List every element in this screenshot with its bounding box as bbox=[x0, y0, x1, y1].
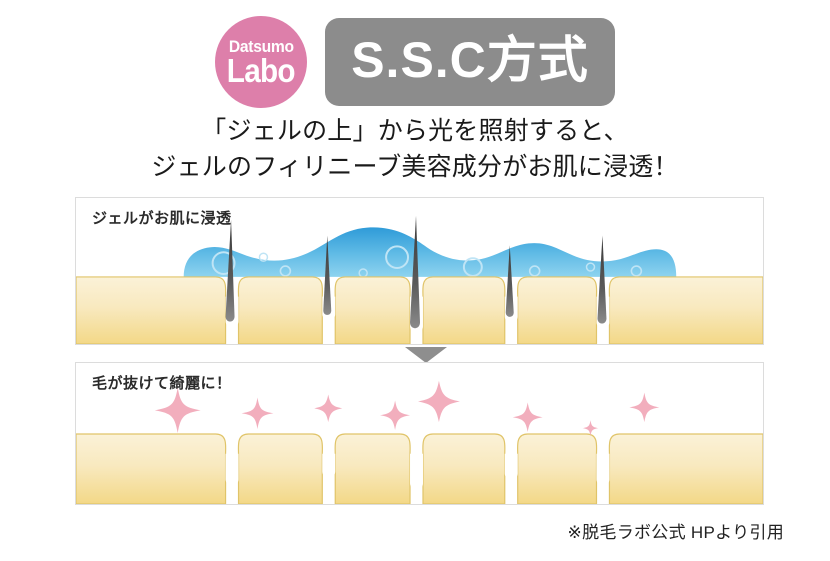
panel-clean-label: 毛が抜けて綺麗に！ bbox=[92, 372, 232, 393]
lead-copy-line-1: 「ジェルの上」から光を照射すると、 bbox=[0, 114, 830, 150]
flow-arrow-down-icon bbox=[405, 347, 447, 363]
diagram-panel-gel: ジェルがお肌に浸透 bbox=[75, 197, 764, 345]
brand-logo-bottom-text: Labo bbox=[227, 54, 295, 87]
source-credit: ※脱毛ラボ公式 HPより引用 bbox=[568, 518, 784, 543]
lead-copy: 「ジェルの上」から光を照射すると、 ジェルのフィリニーブ美容成分がお肌に浸透！ bbox=[0, 114, 830, 185]
empty-follicle bbox=[322, 454, 335, 478]
empty-follicle bbox=[226, 454, 239, 486]
empty-follicle bbox=[596, 454, 609, 486]
ssc-method-banner: S.S.C方式 bbox=[325, 18, 615, 106]
brand-logo: Datsumo Labo bbox=[215, 16, 307, 108]
header: Datsumo Labo S.S.C方式 bbox=[0, 12, 830, 112]
empty-follicle bbox=[505, 454, 518, 480]
lead-copy-line-2: ジェルのフィリニーブ美容成分がお肌に浸透！ bbox=[0, 150, 830, 186]
diagram-panel-clean: 毛が抜けて綺麗に！ bbox=[75, 362, 764, 505]
panel-gel-label: ジェルがお肌に浸透 bbox=[92, 207, 232, 228]
ssc-method-title: S.S.C方式 bbox=[351, 35, 589, 89]
empty-follicle bbox=[410, 454, 423, 490]
